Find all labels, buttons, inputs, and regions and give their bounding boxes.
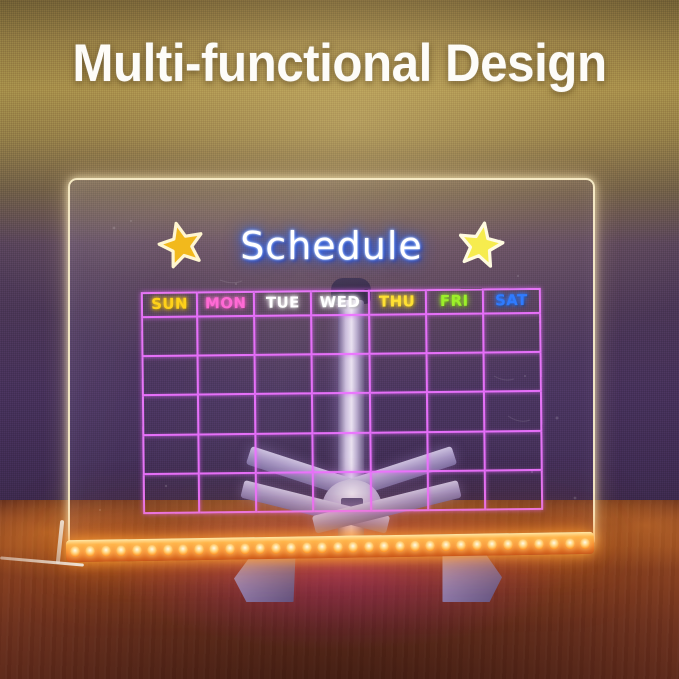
led-dot: [564, 538, 574, 549]
day-label: MON: [198, 292, 253, 315]
calendar-cell[interactable]: [143, 474, 201, 514]
led-dot: [132, 544, 142, 555]
calendar-cell[interactable]: [257, 434, 315, 474]
calendar-cell[interactable]: [199, 356, 257, 396]
led-dot: [518, 538, 528, 549]
led-dot: [580, 537, 590, 548]
calendar-header-cell[interactable]: FRI: [427, 289, 484, 316]
calendar-cell[interactable]: [257, 473, 315, 513]
calendar-cell[interactable]: [313, 355, 371, 395]
calendar-cell[interactable]: [199, 395, 257, 435]
led-dot: [302, 542, 312, 553]
product-photo-scene: Multi-functional Design: [0, 0, 679, 679]
led-dot: [163, 544, 173, 555]
led-dot: [533, 538, 543, 549]
led-dot: [317, 542, 327, 553]
day-label: THU: [369, 290, 424, 313]
weekly-calendar-grid[interactable]: SUNMONTUEWEDTHUFRISAT: [141, 288, 543, 514]
led-dot: [441, 540, 451, 551]
led-dot: [456, 539, 466, 550]
day-label: WED: [312, 291, 367, 314]
calendar-cell[interactable]: [427, 315, 485, 355]
led-dot: [379, 541, 389, 552]
calendar-cell[interactable]: [256, 355, 314, 395]
led-dot: [194, 543, 204, 554]
led-dot: [487, 539, 497, 550]
calendar-cell[interactable]: [428, 471, 486, 511]
calendar-cell[interactable]: [313, 316, 371, 356]
calendar-cell[interactable]: [314, 433, 372, 473]
led-dot: [116, 545, 126, 556]
calendar-cell[interactable]: [142, 357, 200, 397]
calendar-header-cell[interactable]: WED: [312, 290, 369, 317]
calendar-cell[interactable]: [141, 318, 199, 358]
calendar-cell[interactable]: [370, 393, 428, 433]
led-dot: [70, 545, 80, 556]
led-dot: [178, 544, 188, 555]
calendar-header-cell[interactable]: THU: [369, 289, 426, 316]
calendar-cell[interactable]: [427, 354, 485, 394]
led-dot: [394, 540, 404, 551]
led-dot: [224, 543, 234, 554]
acrylic-led-board[interactable]: Schedule SUNMONTUEWEDTHUFRISAT: [68, 178, 595, 548]
led-dot: [209, 543, 219, 554]
calendar-cell[interactable]: [256, 395, 314, 435]
calendar-cell[interactable]: [428, 432, 486, 472]
calendar-header-cell[interactable]: MON: [198, 291, 255, 318]
calendar-cell[interactable]: [485, 392, 543, 432]
calendar-cell[interactable]: [485, 431, 543, 471]
led-dot: [240, 543, 250, 554]
calendar-cell[interactable]: [314, 472, 372, 512]
led-dot: [425, 540, 435, 551]
led-dot: [333, 541, 343, 552]
led-dot: [364, 541, 374, 552]
calendar-cell[interactable]: [486, 471, 544, 511]
day-label: SAT: [484, 289, 539, 312]
led-dot: [549, 538, 559, 549]
calendar-header-cell[interactable]: TUE: [255, 290, 312, 317]
led-dot: [472, 539, 482, 550]
board-title: Schedule: [70, 224, 593, 268]
calendar-cell[interactable]: [142, 396, 200, 436]
day-label: SUN: [143, 293, 196, 316]
calendar-cell[interactable]: [371, 433, 429, 473]
led-dot: [348, 541, 358, 552]
board-title-row: Schedule: [70, 216, 593, 272]
day-label: FRI: [427, 290, 482, 313]
star-icon: [454, 216, 507, 269]
calendar-cell[interactable]: [484, 314, 542, 354]
led-dot: [286, 542, 296, 553]
calendar-cell[interactable]: [255, 316, 313, 356]
led-dot: [85, 545, 95, 556]
calendar-cell[interactable]: [142, 435, 200, 475]
calendar-cell[interactable]: [313, 394, 371, 434]
page-title: Multi-functional Design: [24, 33, 655, 94]
day-label: TUE: [255, 291, 310, 314]
led-dot: [410, 540, 420, 551]
calendar-cell[interactable]: [371, 472, 429, 512]
calendar-cell[interactable]: [199, 434, 257, 474]
calendar-cell[interactable]: [370, 315, 428, 355]
calendar-cell[interactable]: [200, 474, 258, 514]
led-dot: [147, 544, 157, 555]
calendar-cells: SUNMONTUEWEDTHUFRISAT: [141, 288, 543, 514]
led-dot: [101, 545, 111, 556]
calendar-cell[interactable]: [198, 317, 256, 357]
calendar-cell[interactable]: [370, 354, 428, 394]
calendar-cell[interactable]: [484, 353, 542, 393]
calendar-cell[interactable]: [428, 393, 486, 433]
calendar-header-cell[interactable]: SUN: [141, 292, 198, 319]
calendar-header-cell[interactable]: SAT: [484, 288, 541, 315]
led-dot: [271, 542, 281, 553]
led-dot: [255, 543, 265, 554]
led-dot-row: [70, 536, 590, 558]
led-dot: [503, 539, 513, 550]
